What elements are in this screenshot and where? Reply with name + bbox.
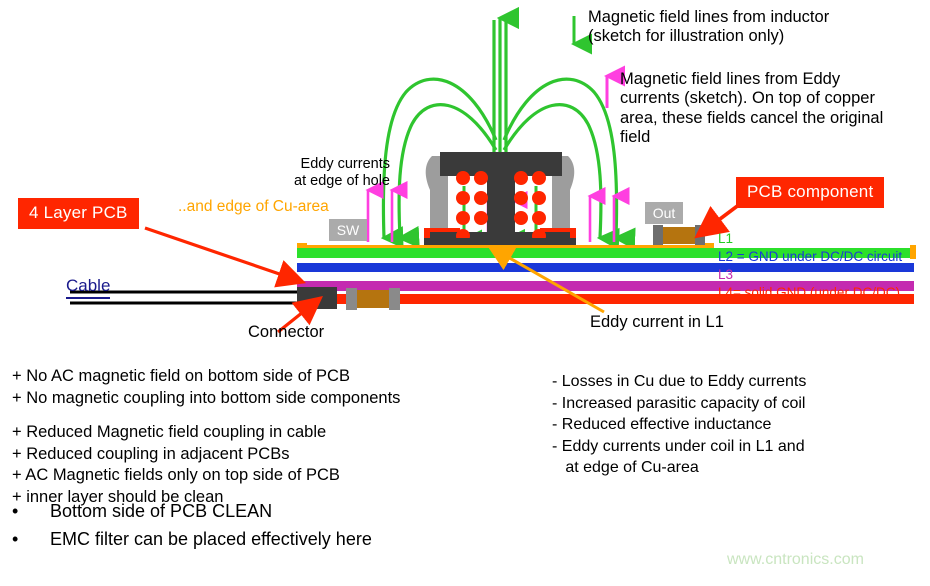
inductor-component <box>424 152 576 258</box>
cons-list: - Losses in Cu due to Eddy currents - In… <box>552 371 806 479</box>
label-cu-area: ..and edge of Cu-area <box>178 198 329 216</box>
pros-item: + Reduced Magnetic field coupling in cab… <box>12 422 400 444</box>
cons-item: - Reduced effective inductance <box>552 414 806 436</box>
cons-item: - Increased parasitic capacity of coil <box>552 393 806 415</box>
label-cable: Cable <box>66 276 110 299</box>
chip-sw: SW <box>329 219 367 241</box>
chip-out: Out <box>645 202 683 224</box>
layer-label-l1: L1 <box>718 231 733 246</box>
cons-item: - Losses in Cu due to Eddy currents <box>552 371 806 393</box>
legend-inductor-field-text: Magnetic field lines from inductor (sket… <box>588 8 829 47</box>
callout-4-layer-pcb[interactable]: 4 Layer PCB <box>18 198 139 229</box>
legend-eddy-field-text: Magnetic field lines from Eddy currents … <box>620 70 883 148</box>
layer-label-l4: L4= solid GND (under DC/DC) <box>718 285 900 300</box>
label-eddy-currents: Eddy currents at edge of hole <box>272 156 390 190</box>
layer-label-l3: L3 <box>718 267 733 282</box>
label-eddy-current-in-l1: Eddy current in L1 <box>590 313 724 332</box>
bullet-icon: • <box>12 497 50 525</box>
list-item: • Bottom side of PCB CLEAN <box>12 497 372 525</box>
conclusions-list: • Bottom side of PCB CLEAN • EMC filter … <box>12 497 372 553</box>
pros-item: + No AC magnetic field on bottom side of… <box>12 366 400 388</box>
layer-label-l2: L2 = GND under DC/DC circuit <box>718 249 902 264</box>
pros-spacer <box>12 409 400 422</box>
pros-item: + AC Magnetic fields only on top side of… <box>12 465 400 487</box>
bullet-icon: • <box>12 525 50 553</box>
label-connector: Connector <box>248 323 324 342</box>
top-side-component <box>653 225 705 246</box>
layer-l2 <box>297 263 914 272</box>
pros-list: + No AC magnetic field on bottom side of… <box>12 366 400 508</box>
connector-body <box>297 287 337 309</box>
conclusion-text: EMC filter can be placed effectively her… <box>50 525 372 553</box>
conclusion-text: Bottom side of PCB CLEAN <box>50 497 272 525</box>
pros-item: + Reduced coupling in adjacent PCBs <box>12 444 400 466</box>
list-item: • EMC filter can be placed effectively h… <box>12 525 372 553</box>
pros-item: + No magnetic coupling into bottom side … <box>12 388 400 410</box>
cons-item: - Eddy currents under coil in L1 and <box>552 436 806 458</box>
diagram-canvas: Magnetic field lines from inductor (sket… <box>0 0 930 586</box>
bottom-side-component <box>346 288 400 310</box>
cons-item: at edge of Cu-area <box>552 457 806 479</box>
callout-pcb-component[interactable]: PCB component <box>736 177 884 208</box>
watermark: www.cntronics.com <box>727 551 864 569</box>
